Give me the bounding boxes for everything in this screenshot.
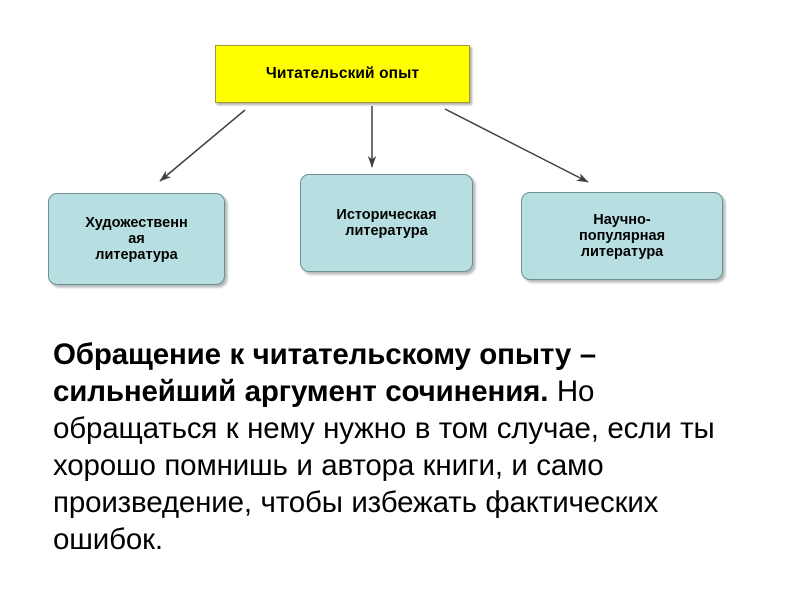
root-node: Читательский опыт <box>215 45 470 103</box>
body-lead-sentence: Обращение к читательскому опыту – сильне… <box>53 338 596 408</box>
fiction-node: Художественн ая литература <box>48 193 225 285</box>
body-paragraph: Обращение к читательскому опыту – сильне… <box>53 336 765 558</box>
history-node: Историческая литература <box>300 174 473 272</box>
root-node-label: Читательский опыт <box>260 65 425 82</box>
concept-diagram: Читательский опыт Художественн ая литера… <box>0 0 800 300</box>
history-node-label: Историческая литература <box>330 207 442 239</box>
science-node-label: Научно- популярная литература <box>573 212 671 261</box>
arrow-root-to-science <box>445 109 588 182</box>
slide-canvas: Читательский опыт Художественн ая литера… <box>0 0 800 600</box>
science-node: Научно- популярная литература <box>521 192 723 280</box>
fiction-node-label: Художественн ая литература <box>79 215 193 264</box>
arrow-root-to-fiction <box>160 110 245 181</box>
